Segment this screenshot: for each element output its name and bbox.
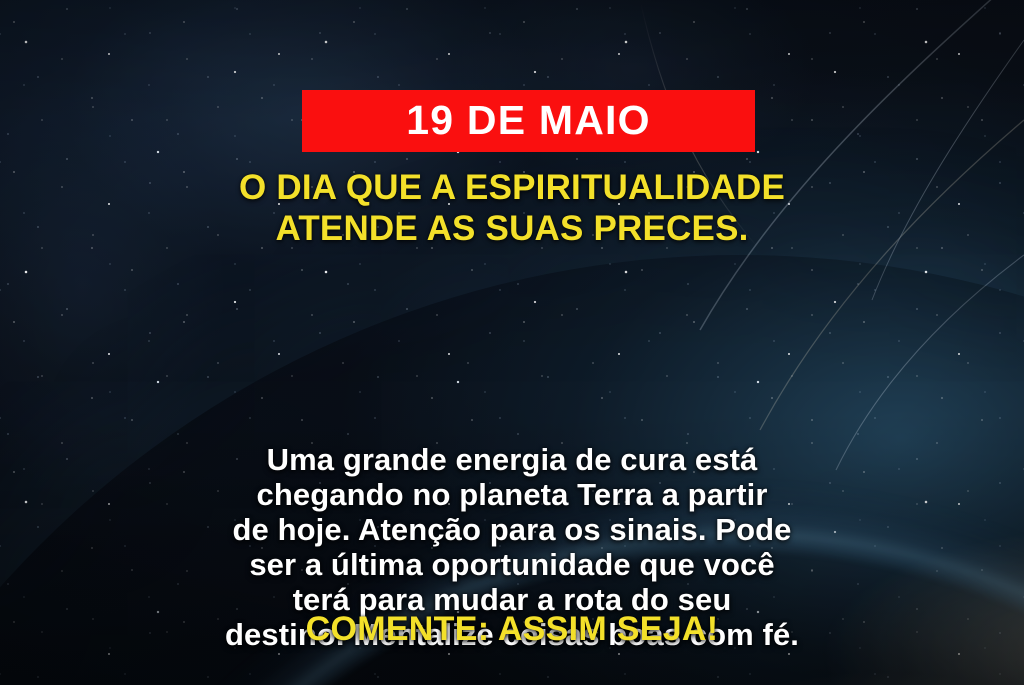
- date-badge-label: 19 DE MAIO: [406, 100, 650, 141]
- headline-line-2: ATENDE AS SUAS PRECES.: [0, 209, 1024, 250]
- body-line-4: ser a última oportunidade que você: [0, 549, 1024, 580]
- call-to-action: COMENTE: ASSIM SEJA!: [0, 612, 1024, 646]
- body-line-3: de hoje. Atenção para os sinais. Pode: [0, 514, 1024, 545]
- headline: O DIA QUE A ESPIRITUALIDADE ATENDE AS SU…: [0, 168, 1024, 250]
- cta-label: COMENTE: ASSIM SEJA!: [306, 610, 719, 648]
- poster-content: 19 DE MAIO O DIA QUE A ESPIRITUALIDADE A…: [0, 0, 1024, 685]
- poster-canvas: 19 DE MAIO O DIA QUE A ESPIRITUALIDADE A…: [0, 0, 1024, 685]
- headline-line-1: O DIA QUE A ESPIRITUALIDADE: [0, 168, 1024, 209]
- date-badge: 19 DE MAIO: [302, 90, 755, 152]
- body-line-1: Uma grande energia de cura está: [0, 444, 1024, 475]
- body-line-2: chegando no planeta Terra a partir: [0, 479, 1024, 510]
